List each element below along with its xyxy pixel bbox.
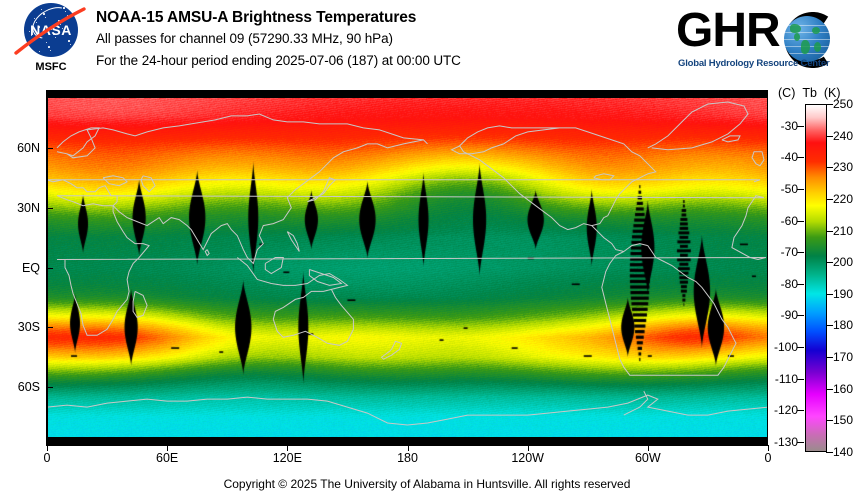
coastline-path	[133, 291, 147, 317]
colorbar-kelvin-tick-label: 180	[833, 319, 853, 331]
coastline-path	[594, 174, 614, 180]
coastline-path	[287, 232, 299, 252]
x-axis-tick-label: 120E	[257, 452, 317, 465]
x-axis-tick-label: 60W	[618, 452, 678, 465]
colorbar-celsius-tick-label: -30	[781, 120, 798, 132]
colorbar-kelvin-tick-label: 170	[833, 351, 853, 363]
colorbar-kelvin-tick-label: 250	[833, 98, 853, 110]
coastline-path	[648, 102, 748, 150]
colorbar-kelvin-tick-mark	[826, 420, 833, 421]
x-axis-tick-mark	[167, 445, 168, 451]
x-axis-tick-label: 180	[378, 452, 438, 465]
coastline-path	[602, 246, 736, 376]
coastline-path	[382, 341, 402, 359]
colorbar-kelvin-tick-mark	[826, 262, 833, 263]
colorbar-kelvin-tick-label: 240	[833, 130, 853, 142]
colorbar-kelvin-tick-mark	[826, 104, 833, 105]
coastline-path	[460, 146, 608, 230]
ghrc-tagline: Global Hydrology Resource Center	[678, 58, 829, 69]
coastline-path	[57, 114, 428, 158]
coastline-path	[752, 152, 764, 166]
colorbar-celsius-tick-label: -110	[775, 373, 798, 385]
coastline-path	[592, 226, 648, 252]
colorbar-kelvin-tick-mark	[826, 452, 833, 453]
title-block: NOAA-15 AMSU-A Brightness Temperatures A…	[96, 8, 461, 72]
x-axis-tick-mark	[648, 445, 649, 451]
x-axis-tick-label: 120W	[498, 452, 558, 465]
y-axis-tick-label: 60S	[18, 381, 40, 393]
colorbar-celsius-tick-mark	[797, 379, 804, 380]
colorbar-kelvin-tick-label: 210	[833, 225, 853, 237]
x-axis-tick-label: 0	[17, 452, 77, 465]
colorbar-celsius-tick-label: -90	[781, 309, 798, 321]
colorbar-kelvin-tick-label: 220	[833, 193, 853, 205]
coastline-path	[57, 202, 766, 336]
colorbar-celsius-tick-mark	[797, 315, 804, 316]
colorbar-celsius-tick-label: -100	[774, 341, 798, 353]
colorbar-variable-name: Tb	[802, 86, 817, 100]
colorbar-celsius-tick-label: -130	[774, 436, 798, 448]
x-axis-tick-mark	[408, 445, 409, 451]
colorbar-kelvin-tick-mark	[826, 357, 833, 358]
colorbar-gradient	[806, 105, 826, 451]
colorbar-celsius-tick-label: -70	[781, 246, 798, 258]
colorbar-kelvin-tick-label: 190	[833, 288, 853, 300]
colorbar-celsius-tick-mark	[797, 410, 804, 411]
colorbar-celsius-tick-mark	[797, 189, 804, 190]
y-axis-tick-mark	[47, 327, 53, 328]
colorbar-celsius-tick-mark	[797, 442, 804, 443]
colorbar-celsius-tick-label: -60	[781, 215, 798, 227]
colorbar-celsius-tick-mark	[797, 252, 804, 253]
page-subtitle-period: For the 24-hour period ending 2025-07-06…	[96, 50, 461, 72]
coastline-path	[237, 258, 353, 346]
coastline-overlay	[47, 98, 768, 437]
page-subtitle-channel: All passes for channel 09 (57290.33 MHz,…	[96, 28, 461, 50]
y-axis-tick-label: EQ	[22, 262, 40, 274]
y-axis-tick-label: 30S	[18, 321, 40, 333]
coastline-path	[452, 126, 656, 216]
y-axis-tick-mark	[47, 208, 53, 209]
ghrc-wordmark: GHR	[676, 6, 780, 56]
colorbar-celsius-tick-label: -40	[781, 151, 798, 163]
coastline-path	[307, 178, 335, 202]
x-axis-tick-mark	[528, 445, 529, 451]
colorbar-kelvin-tick-label: 140	[833, 446, 853, 458]
colorbar-kelvin-tick-mark	[826, 167, 833, 168]
colorbar-celsius-tick-label: -50	[781, 183, 798, 195]
colorbar-celsius-tick-mark	[797, 126, 804, 127]
x-axis-tick-mark	[47, 445, 48, 451]
nasa-center-label: MSFC	[10, 61, 92, 73]
colorbar-celsius-tick-label: -120	[774, 404, 798, 416]
page-title: NOAA-15 AMSU-A Brightness Temperatures	[96, 8, 461, 28]
coastline-path	[722, 136, 740, 142]
y-axis-tick-label: 60N	[17, 142, 40, 154]
colorbar-kelvin-tick-mark	[826, 231, 833, 232]
colorbar-unit-celsius: (C)	[778, 86, 795, 100]
colorbar-kelvin-tick-label: 200	[833, 256, 853, 268]
nasa-swoosh-icon	[14, 7, 88, 57]
colorbar-celsius-tick-label: -80	[781, 278, 798, 290]
coastline-path	[47, 395, 768, 425]
colorbar[interactable]	[805, 104, 827, 452]
x-axis-tick-label: 0	[738, 452, 798, 465]
colorbar-header: (C) Tb (K)	[778, 86, 841, 100]
x-axis-tick-label: 60E	[137, 452, 197, 465]
nasa-logo: NASA MSFC	[10, 3, 90, 81]
colorbar-kelvin-tick-mark	[826, 136, 833, 137]
colorbar-kelvin-tick-mark	[826, 325, 833, 326]
colorbar-celsius-tick-mark	[797, 284, 804, 285]
y-axis-tick-mark	[47, 148, 53, 149]
colorbar-kelvin-tick-mark	[826, 199, 833, 200]
x-axis-tick-mark	[768, 445, 769, 451]
colorbar-celsius-tick-mark	[797, 157, 804, 158]
copyright-notice: Copyright © 2025 The University of Alaba…	[0, 477, 854, 491]
colorbar-kelvin-tick-mark	[826, 294, 833, 295]
coastline-path	[113, 140, 423, 264]
colorbar-kelvin-tick-label: 160	[833, 383, 853, 395]
colorbar-kelvin-tick-label: 150	[833, 414, 853, 426]
coastline-path	[103, 176, 127, 186]
map-panel[interactable]	[47, 90, 768, 445]
coastline-path	[265, 258, 283, 274]
x-axis-tick-mark	[287, 445, 288, 451]
colorbar-celsius-tick-mark	[797, 347, 804, 348]
colorbar-celsius-tick-mark	[797, 221, 804, 222]
coastline-path	[141, 176, 155, 192]
y-axis-tick-mark	[47, 387, 53, 388]
page-header: NASA MSFC NOAA-15 AMSU-A Brightness Temp…	[0, 0, 854, 86]
ghrc-globe-icon	[784, 16, 830, 62]
map-data-field	[47, 98, 768, 437]
y-axis-tick-mark	[47, 268, 53, 269]
ghrc-logo: GHR Global Hydrology Resource Center	[676, 6, 846, 78]
coastline-path	[205, 250, 209, 256]
colorbar-kelvin-tick-mark	[826, 389, 833, 390]
y-axis-tick-label: 30N	[17, 202, 40, 214]
colorbar-kelvin-tick-label: 230	[833, 161, 853, 173]
